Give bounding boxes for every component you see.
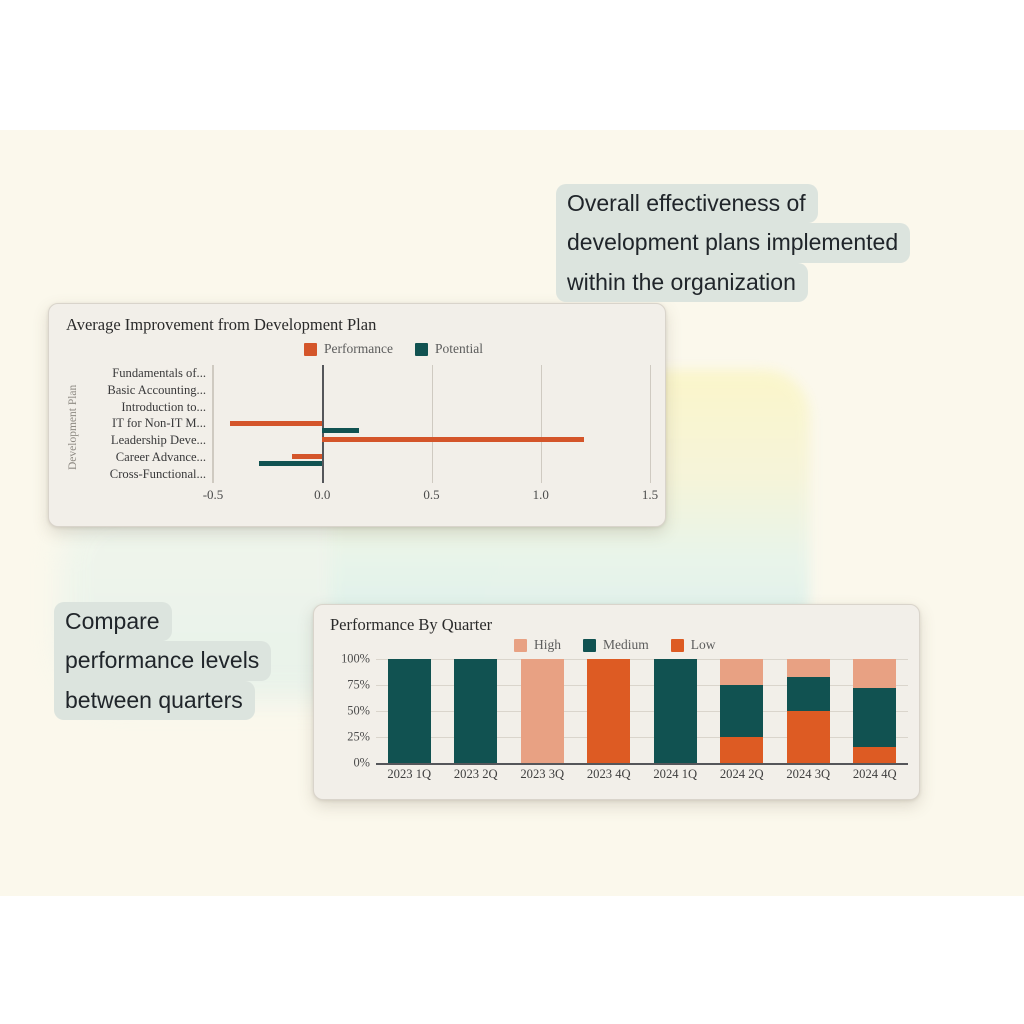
legend-swatch-performance (304, 343, 317, 356)
stacked-bar-column[interactable] (521, 659, 564, 763)
legend-label-medium: Medium (603, 637, 649, 653)
y-axis-title-development-plan: Development Plan (66, 371, 80, 483)
y-tick-label: 0% (353, 756, 370, 771)
x-category-label: 2024 1Q (653, 767, 697, 782)
bar-segment-medium[interactable] (454, 659, 497, 763)
stacked-bar-column[interactable] (654, 659, 697, 763)
bar-group (213, 416, 650, 433)
x-category-label: 2023 1Q (387, 767, 431, 782)
bar-segment-low[interactable] (787, 711, 830, 763)
stacked-bar-column[interactable] (454, 659, 497, 763)
x-tick-label: 1.0 (533, 487, 549, 503)
bar-segment-high[interactable] (720, 659, 763, 685)
legend-performance-by-quarter: High Medium Low (514, 637, 716, 653)
x-tick-label: -0.5 (203, 487, 224, 503)
legend-item-potential[interactable]: Potential (415, 341, 483, 357)
bar-segment-medium[interactable] (388, 659, 431, 763)
bar-group (213, 382, 650, 399)
y-tick-label: 50% (347, 704, 370, 719)
bar-group (213, 399, 650, 416)
plot-performance-by-quarter: 0%25%50%75%100% 2023 1Q2023 2Q2023 3Q202… (328, 659, 908, 791)
bar-group (213, 432, 650, 449)
bar-group (213, 449, 650, 466)
bar-segment-medium[interactable] (654, 659, 697, 763)
x-category-label: 2023 4Q (587, 767, 631, 782)
chart-title-average-improvement: Average Improvement from Development Pla… (66, 315, 376, 335)
bar-segment-low[interactable] (587, 659, 630, 763)
legend-item-high[interactable]: High (514, 637, 561, 653)
legend-label-low: Low (691, 637, 716, 653)
chart-card-average-improvement[interactable]: Average Improvement from Development Pla… (48, 303, 666, 527)
stacked-bar-column[interactable] (388, 659, 431, 763)
stacked-bar-column[interactable] (787, 659, 830, 763)
annotation-top-line-3: within the organization (556, 263, 808, 302)
legend-item-medium[interactable]: Medium (583, 637, 649, 653)
x-category-label: 2024 2Q (720, 767, 764, 782)
bar-performance[interactable] (292, 454, 323, 459)
bar-segment-high[interactable] (521, 659, 564, 763)
y-axis-category-labels: Fundamentals of...Basic Accounting...Int… (82, 365, 213, 483)
annotation-bottom: Compare performance levels between quart… (54, 602, 271, 720)
stacked-bar-column[interactable] (587, 659, 630, 763)
y-category-label: Leadership Deve... (82, 432, 212, 449)
gridline-horizontal (376, 763, 908, 764)
legend-swatch-potential (415, 343, 428, 356)
legend-item-low[interactable]: Low (671, 637, 716, 653)
x-tick-label: 0.5 (423, 487, 439, 503)
x-category-label: 2024 4Q (853, 767, 897, 782)
annotation-bottom-line-3: between quarters (54, 681, 255, 720)
legend-swatch-high (514, 639, 527, 652)
plot-area-performance-by-quarter (376, 659, 908, 765)
gridline-vertical (650, 365, 651, 483)
stacked-bar-column[interactable] (720, 659, 763, 763)
legend-label-high: High (534, 637, 561, 653)
slide-canvas: Overall effectiveness of development pla… (0, 0, 1024, 1024)
y-category-label: Introduction to... (82, 399, 212, 416)
bar-group (213, 466, 650, 483)
legend-swatch-medium (583, 639, 596, 652)
y-tick-label: 100% (341, 652, 370, 667)
x-category-label: 2024 3Q (786, 767, 830, 782)
y-category-label: Fundamentals of... (82, 365, 212, 382)
annotation-top-line-2: development plans implemented (556, 223, 910, 262)
bar-segment-medium[interactable] (853, 688, 896, 747)
annotation-top: Overall effectiveness of development pla… (556, 184, 910, 302)
bar-segment-low[interactable] (853, 747, 896, 763)
chart-title-performance-by-quarter: Performance By Quarter (330, 615, 492, 635)
legend-average-improvement: Performance Potential (304, 341, 483, 357)
bar-segment-medium[interactable] (720, 685, 763, 737)
bar-performance[interactable] (230, 421, 322, 426)
x-category-label: 2023 3Q (520, 767, 564, 782)
y-category-label: Basic Accounting... (82, 382, 212, 399)
bar-segment-high[interactable] (787, 659, 830, 677)
y-category-label: IT for Non-IT M... (82, 416, 212, 433)
bar-segment-low[interactable] (720, 737, 763, 763)
plot-average-improvement: Development Plan Fundamentals of...Basic… (66, 365, 650, 513)
bar-performance[interactable] (322, 437, 584, 442)
legend-label-potential: Potential (435, 341, 483, 357)
annotation-bottom-line-2: performance levels (54, 641, 271, 680)
x-tick-label: 1.5 (642, 487, 658, 503)
y-category-label: Career Advance... (82, 449, 212, 466)
x-category-label: 2023 2Q (454, 767, 498, 782)
bar-segment-high[interactable] (853, 659, 896, 688)
x-axis-average-improvement: -0.50.00.51.01.5 (213, 487, 650, 509)
x-tick-label: 0.0 (314, 487, 330, 503)
x-axis-category-labels: 2023 1Q2023 2Q2023 3Q2023 4Q2024 1Q2024 … (376, 767, 908, 789)
y-category-label: Cross-Functional... (82, 466, 212, 483)
legend-item-performance[interactable]: Performance (304, 341, 393, 357)
chart-card-performance-by-quarter[interactable]: Performance By Quarter High Medium Low 0… (313, 604, 920, 800)
y-axis-tick-labels: 0%25%50%75%100% (328, 659, 374, 763)
bar-group (213, 365, 650, 382)
annotation-top-line-1: Overall effectiveness of (556, 184, 818, 223)
legend-label-performance: Performance (324, 341, 393, 357)
annotation-bottom-line-1: Compare (54, 602, 172, 641)
y-tick-label: 75% (347, 678, 370, 693)
bar-segment-medium[interactable] (787, 677, 830, 711)
stacked-bar-column[interactable] (853, 659, 896, 763)
y-tick-label: 25% (347, 730, 370, 745)
legend-swatch-low (671, 639, 684, 652)
plot-area-average-improvement (213, 365, 650, 483)
